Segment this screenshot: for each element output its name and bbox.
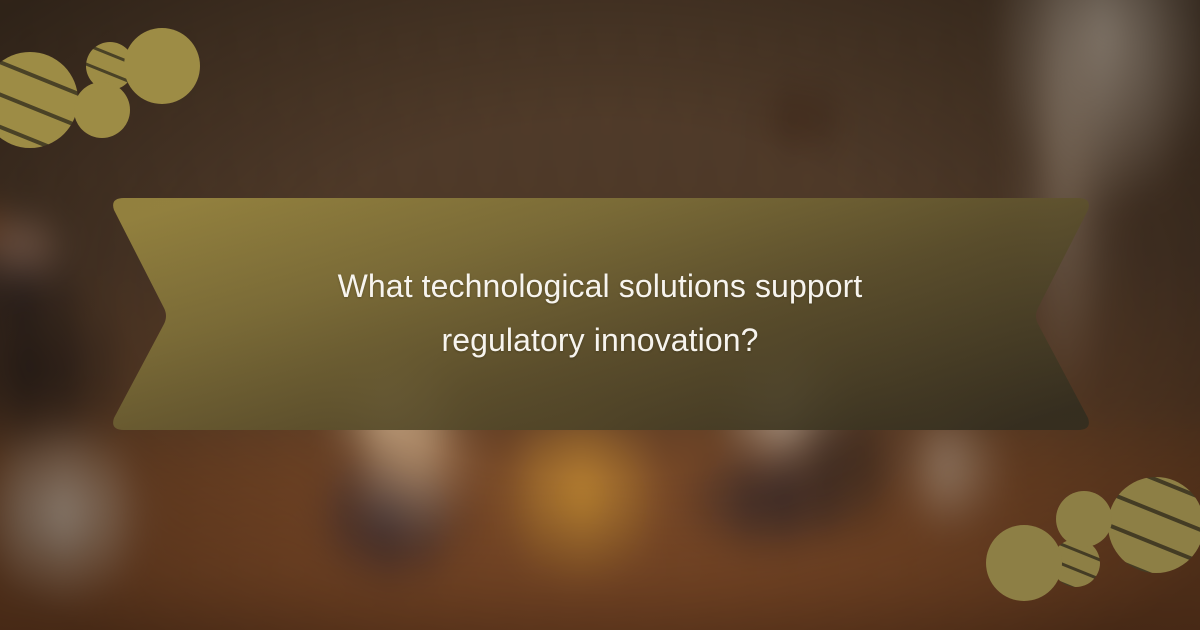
deco-circle-plain-medium (74, 82, 130, 138)
deco-circle-striped-large (1108, 477, 1200, 573)
deco-circle-plain-large (986, 525, 1062, 601)
question-banner: What technological solutions support reg… (108, 196, 1092, 432)
question-card-canvas: What technological solutions support reg… (0, 0, 1200, 630)
circle-cluster-bottom-right (980, 471, 1200, 616)
question-line-1: What technological solutions support (338, 260, 863, 314)
deco-circle-plain-medium (1056, 491, 1112, 547)
banner-text-block: What technological solutions support reg… (108, 196, 1092, 432)
deco-circle-plain-large (124, 28, 200, 104)
deco-circle-striped-large (0, 52, 78, 148)
circle-cluster-top-left (0, 22, 216, 167)
question-line-2: regulatory innovation? (441, 314, 758, 368)
